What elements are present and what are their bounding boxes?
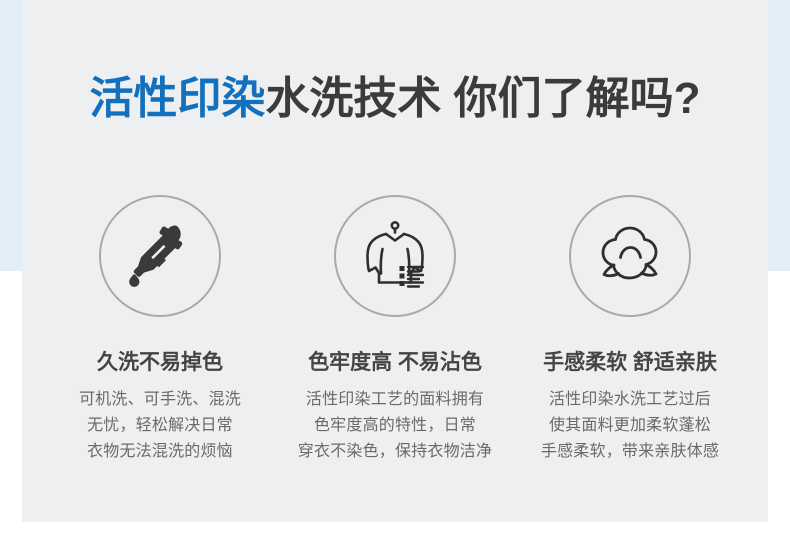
accent-strip-right: [768, 0, 790, 271]
feature-body-line: 活性印染工艺的面料拥有: [298, 387, 492, 413]
feature-body-line: 穿衣不染色，保持衣物洁净: [298, 439, 492, 465]
feature-body: 活性印染工艺的面料拥有 色牢度高的特性，日常 穿衣不染色，保持衣物洁净: [298, 387, 492, 465]
page-title-rest: 水洗技术 你们了解吗?: [265, 74, 700, 123]
dropper-icon: [121, 217, 199, 295]
promo-banner: 活性印染水洗技术 你们了解吗? 久洗不易掉色: [0, 0, 790, 533]
feature-body: 可机洗、可手洗、混洗 无忧，轻松解决日常 衣物无法混洗的烦恼: [79, 387, 241, 465]
feature-body-line: 活性印染水洗工艺过后: [541, 387, 719, 413]
page-title-highlight: 活性印染: [89, 74, 265, 123]
icon-circle: [334, 195, 456, 317]
feature-body-line: 色牢度高的特性，日常: [298, 413, 492, 439]
feature-body-line: 无忧，轻松解决日常: [79, 413, 241, 439]
cotton-boll-icon: [588, 216, 672, 296]
feature-heading: 手感柔软 舒适亲肤: [543, 350, 717, 375]
page-title: 活性印染水洗技术 你们了解吗?: [0, 74, 790, 125]
feature-body-line: 手感柔软，带来亲肤体感: [541, 439, 719, 465]
feature-item: 手感柔软 舒适亲肤 活性印染水洗工艺过后 使其面料更加柔软蓬松 手感柔软，带来亲…: [514, 195, 746, 465]
feature-item: 色牢度高 不易沾色 活性印染工艺的面料拥有 色牢度高的特性，日常 穿衣不染色，保…: [279, 195, 511, 465]
feature-heading: 久洗不易掉色: [97, 350, 223, 375]
feature-heading: 色牢度高 不易沾色: [308, 350, 482, 375]
shirt-label-icon: [355, 216, 435, 296]
feature-body: 活性印染水洗工艺过后 使其面料更加柔软蓬松 手感柔软，带来亲肤体感: [541, 387, 719, 465]
icon-circle: [99, 195, 221, 317]
feature-list: 久洗不易掉色 可机洗、可手洗、混洗 无忧，轻松解决日常 衣物无法混洗的烦恼: [22, 195, 768, 465]
feature-body-line: 可机洗、可手洗、混洗: [79, 387, 241, 413]
feature-body-line: 使其面料更加柔软蓬松: [541, 413, 719, 439]
icon-circle: [569, 195, 691, 317]
feature-item: 久洗不易掉色 可机洗、可手洗、混洗 无忧，轻松解决日常 衣物无法混洗的烦恼: [44, 195, 276, 465]
accent-strip-left: [0, 0, 22, 271]
feature-body-line: 衣物无法混洗的烦恼: [79, 439, 241, 465]
